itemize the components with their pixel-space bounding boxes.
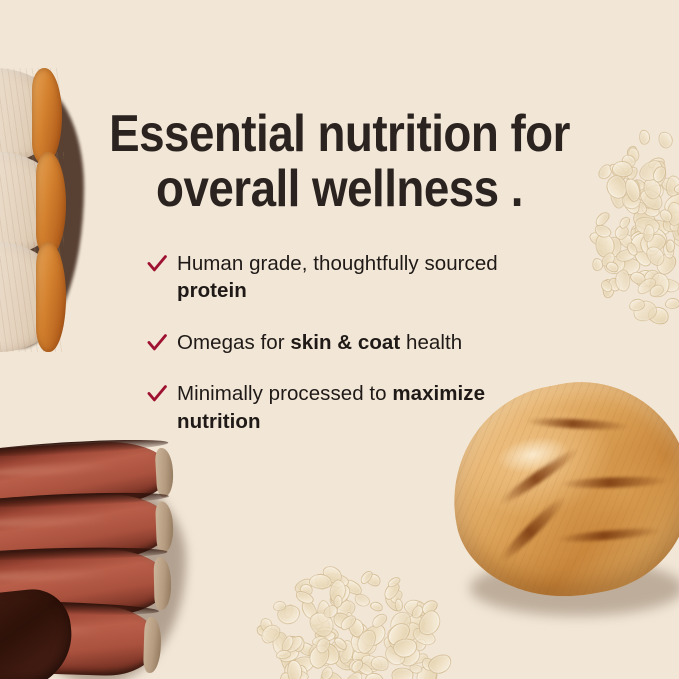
oat-flake [647, 271, 673, 300]
promo-banner: Essential nutrition for overall wellness… [0, 0, 679, 679]
oat-flake [665, 175, 679, 198]
oat-flake [419, 598, 440, 617]
oat-flake [633, 223, 649, 238]
steak-sear-edge [0, 599, 159, 617]
steak-shadow [10, 470, 186, 679]
oat-flake [422, 667, 439, 679]
benefit-item-3: Minimally processed to maximize nutritio… [146, 380, 566, 435]
oat-flake [360, 652, 386, 673]
oat-flake [643, 230, 669, 255]
oat-flake [628, 229, 657, 254]
oat-flake [270, 629, 288, 647]
oat-flake [643, 181, 668, 204]
oat-flake [637, 230, 653, 244]
steak-sheen [0, 460, 119, 477]
oat-flake [276, 603, 302, 626]
oat-flakes-bottomcenter [246, 496, 456, 679]
oat-flake [332, 635, 349, 652]
oat-flake [643, 243, 668, 270]
oat-flake [347, 616, 366, 638]
oat-flake [314, 572, 330, 590]
oat-flake [629, 229, 645, 243]
benefit-text-emphasis: protein [177, 279, 247, 302]
oat-flake [647, 282, 666, 299]
oat-flake [289, 667, 310, 679]
oat-flake [603, 255, 627, 275]
oat-flake [627, 225, 656, 250]
oat-flake [307, 606, 333, 628]
benefit-item-2: Omegas for skin & coat health [146, 329, 566, 356]
oat-flake [410, 604, 425, 621]
oat-flake [604, 260, 620, 274]
oat-flake [340, 616, 359, 632]
benefits-list: Human grade, thoughtfully sourced protei… [146, 250, 566, 435]
oat-flake [415, 607, 445, 639]
oat-flake [650, 164, 668, 185]
steak-sheen [0, 569, 115, 582]
steak-strip [0, 548, 169, 618]
oat-flake [280, 633, 306, 656]
oat-flake [294, 589, 316, 607]
oat-flake [646, 156, 665, 171]
oat-flake [343, 669, 365, 679]
oat-flake [604, 235, 624, 259]
oat-flake [333, 597, 359, 622]
oat-flake [617, 230, 641, 252]
oat-flake [361, 635, 374, 650]
oat-flake [612, 223, 632, 243]
oat-flake [644, 218, 672, 238]
oat-flake [408, 664, 423, 675]
oat-flake [345, 612, 354, 627]
oat-flake [352, 648, 371, 665]
oat-flake [319, 664, 336, 679]
oat-flake [638, 233, 661, 258]
oat-flake [658, 174, 678, 194]
oat-flake [599, 278, 615, 295]
oat-flake [278, 646, 302, 664]
oat-flake [330, 641, 346, 659]
oat-flake [616, 269, 631, 291]
oat-flake [638, 197, 663, 220]
oat-flake [364, 571, 383, 589]
oat-flake [358, 620, 390, 650]
oat-flake [330, 640, 348, 654]
oat-flake [674, 227, 679, 241]
oat-flake [295, 639, 317, 659]
oat-flake [283, 662, 313, 679]
oat-flake [352, 591, 372, 610]
oat-flake [317, 668, 346, 679]
oat-flake [636, 185, 667, 215]
oat-flake [357, 632, 379, 656]
oat-flake [386, 608, 415, 639]
oat-flake [412, 636, 429, 653]
oat-flake [272, 632, 290, 657]
oat-flake [305, 607, 338, 641]
oat-flake [644, 224, 671, 251]
steak-strip [0, 601, 159, 677]
oat-flake [641, 189, 661, 211]
oat-flake [614, 247, 637, 264]
benefit-item-1: Human grade, thoughtfully sourced protei… [146, 250, 566, 305]
steak-sear-edge [0, 437, 169, 460]
grill-mark [496, 493, 568, 565]
oat-flake [327, 578, 348, 604]
oat-flake [381, 642, 409, 670]
oat-flake [279, 643, 298, 671]
oat-flake [398, 619, 424, 645]
benefit-text: Omegas for skin & coat health [177, 329, 462, 356]
steak-strip [0, 439, 172, 512]
oat-flake [637, 156, 667, 185]
oat-flake [652, 250, 679, 278]
oat-flake [662, 242, 674, 260]
oat-flake [592, 222, 613, 240]
headline-line-2: overall wellness . [41, 162, 639, 218]
oat-flake [619, 258, 641, 276]
oat-flake [280, 658, 306, 679]
oat-flake [637, 227, 660, 246]
oat-flake [598, 250, 617, 270]
oat-flake [353, 627, 379, 657]
grill-mark [497, 444, 581, 508]
oat-flake [651, 159, 668, 179]
oat-flake [292, 576, 315, 597]
oat-flake [412, 662, 441, 679]
oat-flake [276, 649, 292, 660]
oat-flake [315, 644, 331, 655]
oat-flake [338, 649, 363, 671]
oat-flake [630, 298, 658, 324]
benefit-text-emphasis: skin & coat [290, 331, 400, 354]
oat-flake [403, 615, 424, 631]
oat-flake [667, 239, 676, 253]
oat-flake [603, 279, 615, 299]
oat-flake [625, 241, 639, 257]
oat-flake [659, 209, 679, 237]
steak-sheen [0, 622, 106, 637]
oat-flake [386, 574, 402, 588]
oat-flake [289, 655, 315, 675]
oat-flake [305, 636, 332, 664]
oat-flake [364, 671, 386, 679]
oat-flake [258, 621, 284, 646]
oat-flake [316, 626, 339, 642]
meat-grain-texture [0, 242, 64, 352]
benefit-text: Human grade, thoughtfully sourced protei… [177, 250, 566, 305]
oat-flake [659, 277, 679, 294]
oat-flake [312, 635, 329, 647]
oat-flake [347, 619, 371, 643]
oat-flake [285, 633, 305, 652]
chicken-gloss-highlight [494, 431, 571, 478]
chicken-breast-shadow [470, 560, 679, 616]
oat-flake [652, 168, 668, 188]
oat-flake [634, 269, 657, 289]
oat-flake [298, 597, 320, 622]
oat-flake [338, 642, 362, 662]
oat-flake [387, 588, 404, 606]
oat-flake [402, 596, 429, 619]
oat-flake [640, 266, 661, 289]
oat-flake [646, 304, 671, 327]
oat-flake [309, 574, 333, 591]
oat-flake [314, 630, 335, 642]
steak-sheen [0, 513, 118, 528]
oat-flake [626, 236, 646, 257]
oat-flake [280, 633, 297, 653]
steak-sear-edge [0, 546, 167, 562]
grill-mark [561, 475, 671, 489]
oat-flake [327, 591, 354, 615]
oat-flake [630, 224, 643, 240]
oat-flake [361, 661, 380, 674]
oat-flake [349, 658, 366, 675]
oat-flake [272, 600, 287, 612]
oat-flake [641, 176, 664, 201]
oat-flake [673, 232, 679, 248]
oat-flake [283, 603, 296, 619]
oat-flake [259, 617, 274, 634]
oat-flake [316, 640, 343, 668]
oat-flake [306, 641, 333, 671]
oat-flake [675, 213, 679, 243]
check-icon [146, 383, 168, 405]
oat-flake [279, 672, 295, 679]
oat-flake [394, 598, 403, 612]
oat-flake [396, 644, 424, 671]
oat-flake [384, 626, 404, 651]
oat-flake [319, 562, 345, 587]
oat-flake [642, 224, 655, 243]
oat-flake [275, 636, 288, 652]
oat-flake [426, 651, 455, 677]
chicken-slice [0, 242, 64, 352]
oat-flake [337, 639, 356, 666]
oat-flake [315, 599, 330, 623]
oat-flake [628, 269, 648, 287]
oat-flake [606, 276, 621, 293]
oat-flake [344, 673, 363, 679]
check-icon [146, 332, 168, 354]
oat-flake [321, 603, 340, 621]
oat-flake [341, 644, 360, 666]
oat-flake [666, 202, 679, 221]
grill-mark [556, 526, 661, 544]
oat-flake [310, 612, 333, 635]
oat-flake [381, 579, 402, 601]
oat-flake [255, 624, 271, 639]
oat-flake [645, 221, 665, 240]
oat-flake [327, 582, 354, 609]
headline: Essential nutrition for overall wellness… [41, 107, 639, 218]
oat-flake [667, 216, 679, 234]
oat-flake [318, 645, 334, 667]
oat-flake [347, 625, 374, 656]
oat-flake [287, 659, 302, 679]
oat-flake [382, 591, 405, 614]
oat-flake [310, 616, 325, 632]
check-icon [146, 253, 168, 275]
oat-flake [661, 190, 679, 216]
oat-flake [298, 582, 314, 597]
oat-flake [419, 654, 439, 673]
oat-flake [369, 654, 390, 672]
oat-flake [263, 628, 281, 642]
oat-flake [391, 668, 414, 679]
oat-flake [657, 130, 675, 150]
oat-flake [339, 576, 364, 598]
oat-flake [628, 298, 646, 312]
oat-flake [414, 599, 429, 614]
steak-fat-cap [153, 557, 171, 610]
oat-flake [369, 610, 390, 630]
oat-flake [665, 298, 679, 310]
oat-flake [358, 569, 374, 586]
oat-flake [638, 130, 650, 146]
oat-flake [293, 635, 305, 652]
steak-fat-cap [155, 447, 175, 497]
oat-flake [587, 230, 609, 250]
oat-flake [392, 638, 419, 660]
steak-strip [0, 492, 171, 564]
benefit-text: Minimally processed to maximize nutritio… [177, 380, 566, 435]
steak-strips-image [0, 440, 200, 679]
oat-flake [658, 206, 675, 224]
oat-flake [332, 595, 344, 610]
chicken-crust [36, 242, 66, 352]
oat-flake [381, 632, 407, 658]
oat-flake [312, 643, 333, 664]
oat-flake [330, 609, 354, 632]
oat-flake [667, 202, 679, 226]
oat-flake [630, 241, 654, 269]
oat-flake [369, 600, 385, 613]
oat-flake [324, 571, 350, 590]
oat-flake [313, 635, 333, 656]
steak-fat-cap [155, 501, 174, 553]
oat-flake [332, 648, 359, 673]
oat-flake [634, 275, 658, 297]
steak-charred-end [0, 586, 77, 679]
oat-flake [595, 233, 617, 259]
oat-flake [412, 651, 429, 665]
oat-flake [592, 257, 604, 270]
headline-line-1: Essential nutrition for [41, 107, 639, 163]
steak-sear-edge [0, 490, 169, 510]
steak-fat-cap [143, 617, 162, 674]
oat-flake [354, 660, 374, 678]
oat-flake [338, 612, 359, 632]
oat-flake [410, 624, 438, 649]
oat-flake [383, 619, 413, 649]
oat-flake [674, 184, 679, 195]
oat-flake [672, 223, 679, 241]
oat-flake [347, 656, 369, 676]
